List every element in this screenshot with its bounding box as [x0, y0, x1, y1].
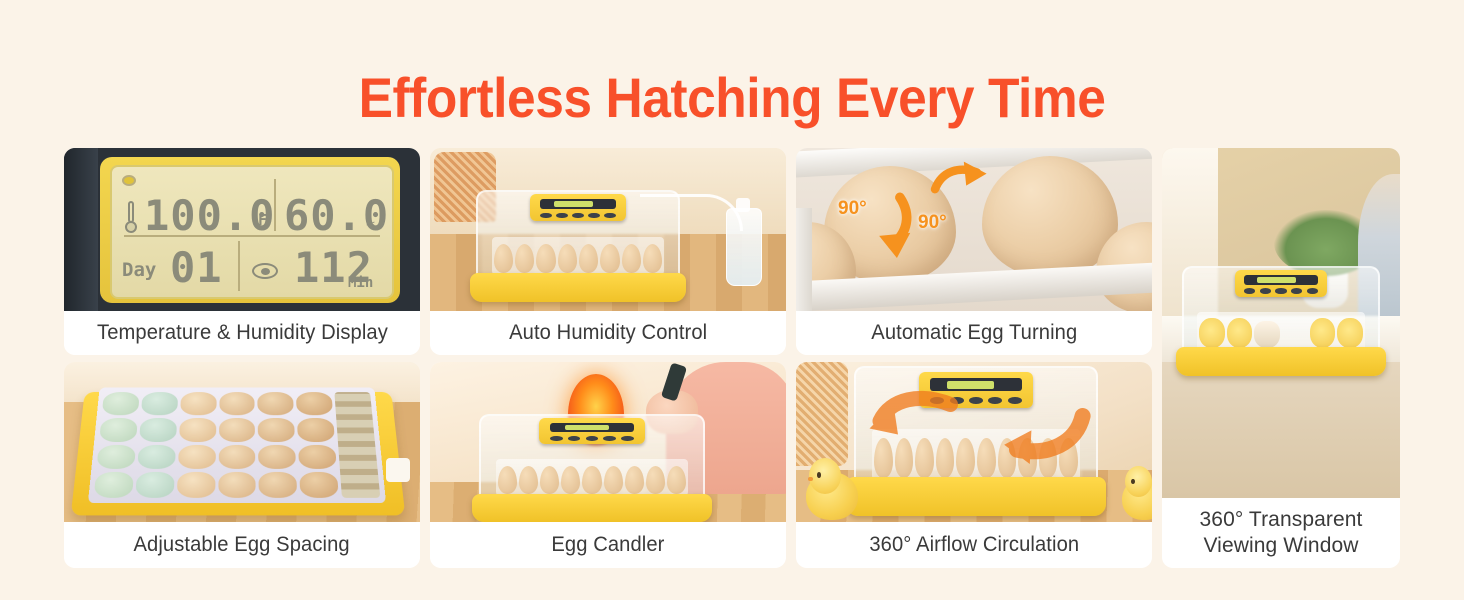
- control-screen: [540, 199, 616, 209]
- feature-card-egg-candler[interactable]: Egg Candler: [430, 362, 786, 568]
- control-buttons: [550, 436, 634, 441]
- chick-in-tray: [1337, 318, 1363, 347]
- eggshell-in-tray: [1282, 321, 1308, 348]
- feature-card-adjustable-egg-spacing[interactable]: Adjustable Egg Spacing: [64, 362, 420, 568]
- airflow-arrow-right-icon: [984, 408, 1098, 472]
- control-buttons: [1244, 288, 1318, 293]
- chick-eye: [817, 472, 821, 478]
- caption-text: Auto Humidity Control: [509, 321, 707, 345]
- caption-bar: Adjustable Egg Spacing: [64, 522, 420, 568]
- page-title: Effortless Hatching Every Time: [59, 68, 1406, 128]
- egg-turning-eye-icon: [252, 263, 278, 279]
- lcd-turn-unit: Min: [348, 275, 373, 291]
- egg-divider-grid: [88, 388, 386, 504]
- chick-in-tray: [1199, 318, 1225, 347]
- caption-text: Automatic Egg Turning: [871, 321, 1077, 345]
- feature-card-auto-humidity-control[interactable]: Auto Humidity Control: [430, 148, 786, 355]
- tray-handle: [386, 458, 410, 482]
- lcd-screen: 100.0 F 60.0 % Day 01 112 Min: [110, 165, 394, 299]
- chick-beak: [808, 477, 813, 482]
- counter-front: [1162, 362, 1400, 498]
- chick-left: [806, 458, 858, 520]
- lcd-scene: 100.0 F 60.0 % Day 01 112 Min: [64, 148, 420, 311]
- chick-head: [1125, 466, 1152, 497]
- caption-bar: Temperature & Humidity Display: [64, 311, 420, 355]
- egg: [498, 466, 517, 494]
- caption-text-line2: Viewing Window: [1200, 533, 1363, 559]
- egg-turn-arrow-down-left-icon: [854, 186, 928, 262]
- chick-head: [809, 458, 841, 494]
- control-screen: [1244, 275, 1318, 285]
- viewing-window-photo: [1162, 148, 1400, 498]
- egg-row: [258, 392, 298, 498]
- auto-humidity-scene: [430, 148, 786, 311]
- lcd-divider-vertical-bottom: [238, 241, 240, 291]
- incubator-unit: [472, 414, 712, 522]
- control-panel: [530, 194, 625, 221]
- caption-text: Egg Candler: [551, 533, 664, 557]
- incubator-base: [472, 494, 712, 522]
- control-panel: [539, 418, 645, 444]
- control-panel: [1235, 270, 1327, 296]
- incubator-base: [470, 273, 686, 302]
- caption-bar: Egg Candler: [430, 522, 786, 568]
- caption-text-line1: 360° Transparent: [1200, 507, 1363, 533]
- lcd-day-value: 01: [170, 247, 223, 289]
- device-body-edge: [64, 148, 98, 311]
- product-feature-page: Effortless Hatching Every Time 100.0 F 6…: [0, 0, 1464, 600]
- tray-rail-middle: [796, 208, 812, 311]
- lcd-day-label: Day: [122, 259, 156, 281]
- egg: [643, 244, 662, 273]
- egg: [519, 466, 538, 494]
- bottle-neck: [736, 198, 750, 212]
- egg: [582, 466, 601, 494]
- egg: [515, 244, 534, 273]
- lcd-temperature-unit: F: [258, 211, 267, 229]
- chick-in-tray: [1227, 318, 1253, 347]
- incubator-base: [846, 477, 1106, 516]
- airflow-photo: [796, 362, 1152, 522]
- egg-row: [218, 392, 256, 498]
- caption-bar: Automatic Egg Turning: [796, 311, 1152, 355]
- egg: [558, 244, 577, 273]
- feature-card-temperature-humidity-display[interactable]: 100.0 F 60.0 % Day 01 112 Min: [64, 148, 420, 355]
- egg-turning-scene: 90° 90°: [796, 148, 1152, 311]
- egg: [622, 244, 641, 273]
- quail-egg-row: [335, 392, 381, 498]
- egg: [646, 466, 665, 494]
- viewing-window-scene: [1162, 148, 1400, 498]
- status-indicator-icon: [122, 175, 136, 186]
- lcd-photo: 100.0 F 60.0 % Day 01 112 Min: [64, 148, 420, 311]
- egg-row: [176, 392, 216, 498]
- feature-card-airflow-circulation[interactable]: 360° Airflow Circulation: [796, 362, 1152, 568]
- egg-spacing-photo: [64, 362, 420, 522]
- chick-right: [1122, 466, 1152, 520]
- caption-text: 360° Airflow Circulation: [869, 533, 1079, 557]
- egg: [604, 466, 623, 494]
- eggshell-in-tray: [1254, 321, 1280, 348]
- feature-grid: 100.0 F 60.0 % Day 01 112 Min: [64, 148, 1400, 568]
- egg-turn-arrow-up-right-icon: [918, 152, 1000, 212]
- chick-in-tray: [1310, 318, 1336, 347]
- caption-bar: 360° Airflow Circulation: [796, 522, 1152, 568]
- egg: [536, 244, 555, 273]
- incubator-base: [1176, 347, 1386, 376]
- caption-bar: Auto Humidity Control: [430, 311, 786, 355]
- egg-row: [94, 392, 140, 498]
- egg: [579, 244, 598, 273]
- egg: [600, 244, 619, 273]
- thermometer-icon: [126, 201, 136, 235]
- caption-text: Temperature & Humidity Display: [97, 321, 388, 345]
- egg-tray: [492, 237, 665, 275]
- egg: [625, 466, 644, 494]
- egg-candler-scene: [430, 362, 786, 522]
- chick-tray: [1197, 312, 1365, 349]
- egg-turning-photo: 90° 90°: [796, 148, 1152, 311]
- egg: [561, 466, 580, 494]
- airflow-arrow-left-icon: [858, 388, 968, 448]
- lcd-humidity-unit: %: [366, 215, 375, 233]
- rattan-chair: [796, 362, 848, 466]
- caption-bar: 360° Transparent Viewing Window: [1162, 498, 1400, 568]
- feature-card-transparent-viewing-window[interactable]: 360° Transparent Viewing Window: [1162, 148, 1400, 568]
- egg: [494, 244, 513, 273]
- auto-humidity-photo: [430, 148, 786, 311]
- control-buttons: [540, 213, 616, 218]
- lcd-temperature: 100.0: [144, 195, 275, 237]
- feature-card-automatic-egg-turning[interactable]: 90° 90° Automatic Egg Turning: [796, 148, 1152, 355]
- egg-spacing-scene: [64, 362, 420, 522]
- egg-row: [135, 392, 178, 498]
- caption-text: Adjustable Egg Spacing: [134, 533, 350, 557]
- lcd-divider-horizontal: [124, 235, 380, 237]
- egg-row: [296, 392, 339, 498]
- lcd-divider-vertical-top: [274, 179, 276, 231]
- egg: [540, 466, 559, 494]
- airflow-scene: [796, 362, 1152, 522]
- egg-candler-photo: [430, 362, 786, 522]
- chick-eye: [1131, 479, 1135, 484]
- control-screen: [550, 423, 634, 432]
- egg-tray: [496, 459, 688, 496]
- incubator-unit: [1176, 266, 1386, 376]
- egg: [667, 466, 686, 494]
